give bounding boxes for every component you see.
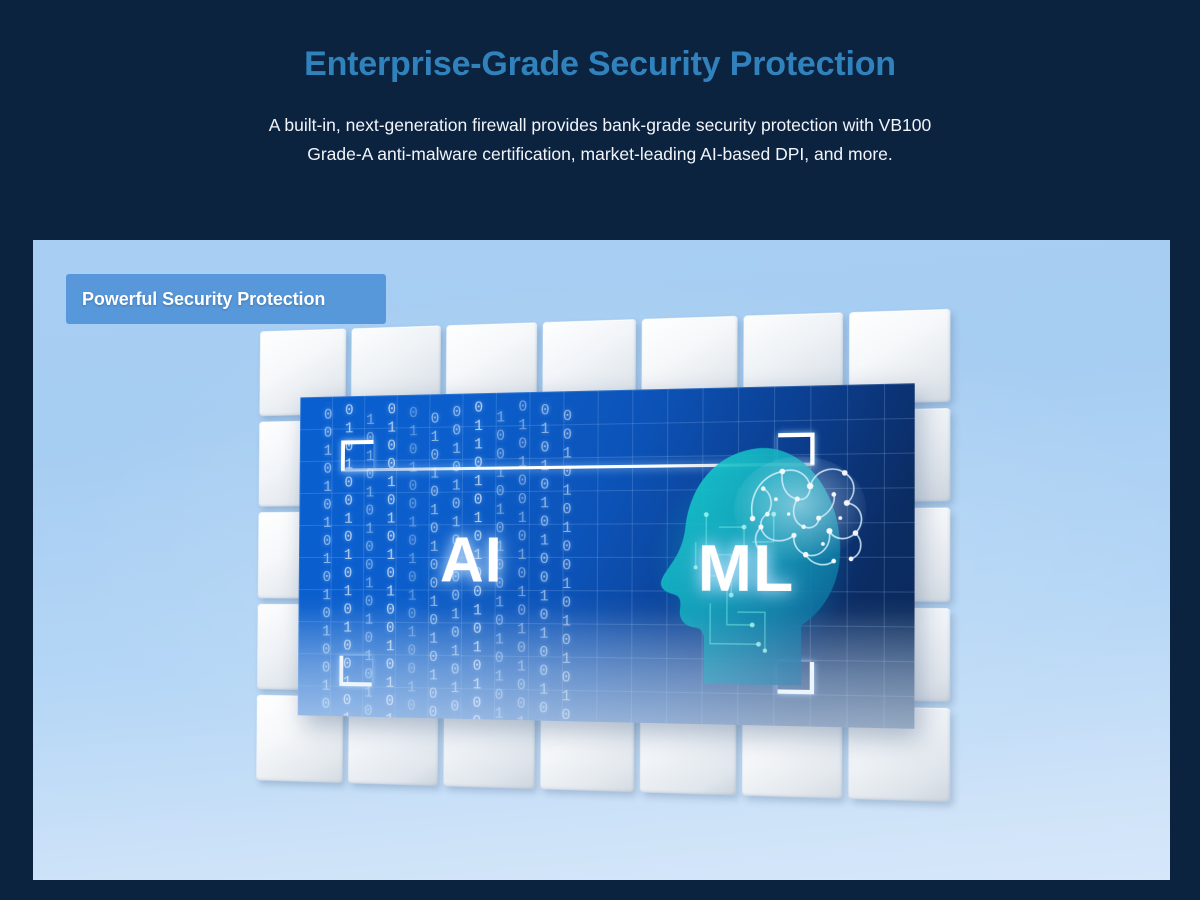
feature-image-panel: 10010101010101001010 0101001010101001010… (33, 240, 1170, 880)
ai-ml-display-screen: 10010101010101001010 0101001010101001010… (298, 383, 915, 729)
corner-bracket-top-left-icon (341, 440, 373, 471)
page-title: Enterprise-Grade Security Protection (0, 44, 1200, 85)
ai-label: AI (440, 524, 503, 597)
subtitle-line-1: A built-in, next-generation firewall pro… (0, 111, 1200, 140)
page-subtitle: A built-in, next-generation firewall pro… (0, 111, 1200, 169)
subtitle-line-2: Grade-A anti-malware certification, mark… (0, 140, 1200, 169)
ml-label: ML (698, 531, 795, 607)
screen-frost-overlay (298, 607, 915, 729)
badge-label: Powerful Security Protection (82, 289, 325, 310)
hero-header: Enterprise-Grade Security Protection A b… (0, 0, 1200, 169)
powerful-security-badge: Powerful Security Protection (66, 274, 386, 324)
display-screen-stage: 10010101010101001010 0101001010101001010… (33, 240, 1170, 880)
